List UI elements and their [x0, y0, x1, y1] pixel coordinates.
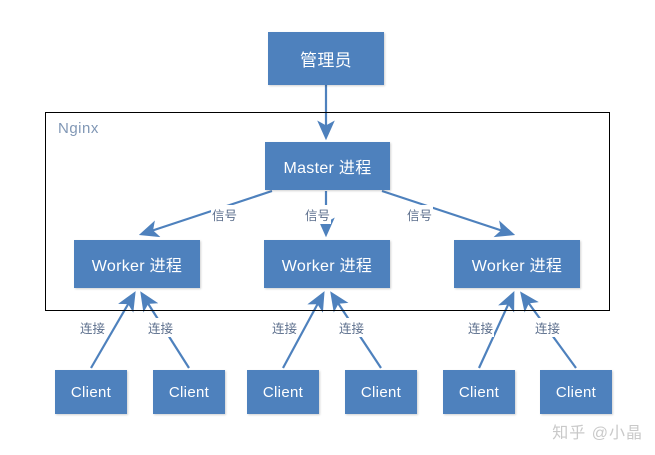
- node-client-3[interactable]: Client: [247, 370, 319, 414]
- edge-label-connection-5: 连接: [467, 318, 494, 337]
- node-worker-process-2[interactable]: Worker 进程: [264, 240, 390, 288]
- edge-label-connection-6: 连接: [534, 318, 561, 337]
- edge-label-connection-2: 连接: [147, 318, 174, 337]
- edge-label-connection-4: 连接: [338, 318, 365, 337]
- node-worker-process-3[interactable]: Worker 进程: [454, 240, 580, 288]
- node-client-6[interactable]: Client: [540, 370, 612, 414]
- edge-label-signal-3: 信号: [406, 205, 433, 224]
- edge-label-connection-1: 连接: [79, 318, 106, 337]
- node-client-4[interactable]: Client: [345, 370, 417, 414]
- node-worker-process-1[interactable]: Worker 进程: [74, 240, 200, 288]
- edge-label-signal-1: 信号: [211, 205, 238, 224]
- edge-label-signal-2: 信号: [304, 205, 331, 224]
- edge-label-connection-3: 连接: [271, 318, 298, 337]
- nginx-container-label: Nginx: [58, 120, 99, 137]
- diagram-canvas: Nginx 管理员 Master 进程 Worker 进程 Worker 进程 …: [0, 0, 655, 455]
- node-client-2[interactable]: Client: [153, 370, 225, 414]
- node-admin[interactable]: 管理员: [268, 32, 384, 85]
- node-client-5[interactable]: Client: [443, 370, 515, 414]
- watermark: 知乎 @小晶: [552, 419, 643, 443]
- node-master-process[interactable]: Master 进程: [265, 142, 390, 190]
- node-client-1[interactable]: Client: [55, 370, 127, 414]
